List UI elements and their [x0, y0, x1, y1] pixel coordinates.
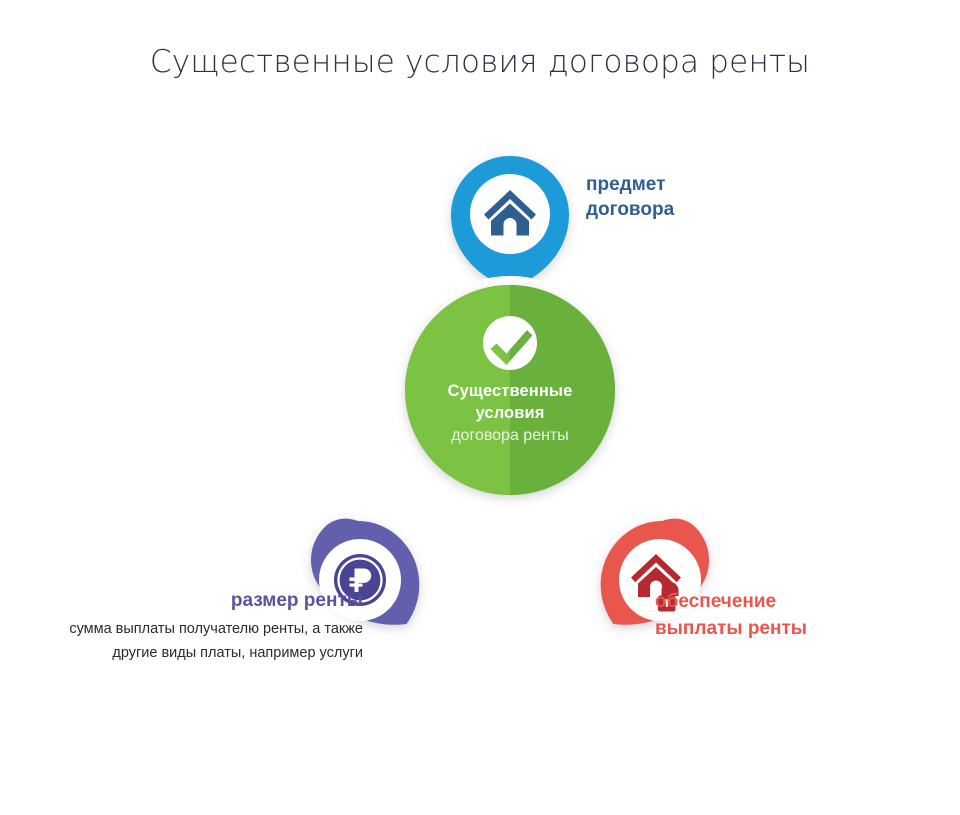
check-circle-icon	[470, 303, 550, 383]
node-subject-pin[interactable]	[451, 156, 569, 288]
amount-title: размер ренты	[28, 588, 363, 613]
security-title-line-2: выплаты ренты	[655, 615, 935, 642]
amount-description: сумма выплаты получателю ренты, а также …	[28, 617, 363, 665]
center-circle[interactable]	[396, 276, 624, 504]
node-label-subject[interactable]: предмет договора	[586, 172, 816, 222]
page-title: Существенные условия договора ренты	[0, 44, 960, 80]
security-title-line-1: обеспечение	[655, 588, 935, 615]
subject-title-line-2: договора	[586, 197, 816, 222]
infographic-diagram: Существенные условия договора ренты пред…	[0, 140, 960, 740]
subject-title-line-1: предмет	[586, 172, 816, 197]
node-label-amount[interactable]: размер ренты сумма выплаты получателю ре…	[28, 588, 363, 665]
node-label-security[interactable]: обеспечение выплаты ренты	[655, 588, 935, 642]
